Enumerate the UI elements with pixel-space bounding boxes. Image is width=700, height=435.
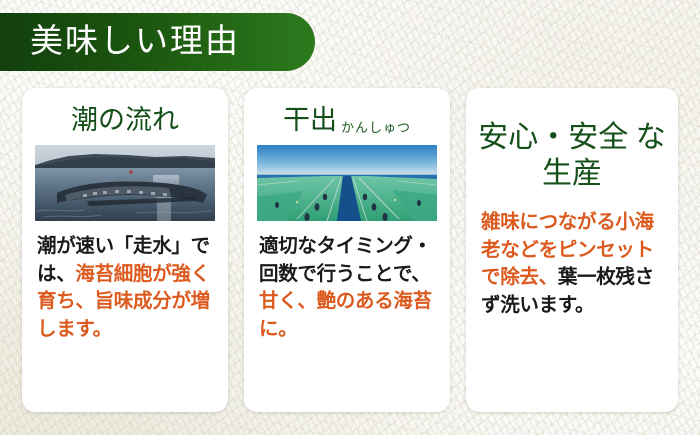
section-heading-text: 美味しい理由 [0,26,240,59]
reason-card: 干出かんしゅつ [244,88,450,412]
reason-card: 安心・安全 な生産 雑味につながる小海老などをピンセットで除去、葉一枚残さず洗い… [466,88,678,412]
card-body-text: 適切なタイミング・回数で行うことで、甘く、艶のある海苔に。 [256,232,438,343]
card-body-plain-lead: 適切なタイミング・回数で行うことで、 [259,234,432,285]
card-title: 潮の流れ [34,98,216,136]
card-body-highlight: 甘く、艶のある海苔に。 [259,289,432,340]
nori-raft-at-sea-photo [35,145,215,221]
poster-page: 美味しい理由 潮の流れ [0,0,700,435]
card-title-furigana: かんしゅつ [337,121,411,136]
card-body-text: 潮が速い「走水」では、海苔細胞が強く育ち、旨味成分が増します。 [34,232,216,343]
reason-card: 潮の流れ [22,88,228,412]
card-title-text: 干出 [283,105,337,135]
nori-nets-exposed-photo [257,145,437,221]
card-title: 干出かんしゅつ [256,98,438,136]
reason-card-list: 潮の流れ [22,88,678,412]
section-heading-banner: 美味しい理由 [0,13,315,71]
card-body-text: 雑味につながる小海老などをピンセットで除去、葉一枚残さず洗います。 [478,208,666,319]
card-title: 安心・安全 な生産 [478,98,666,192]
